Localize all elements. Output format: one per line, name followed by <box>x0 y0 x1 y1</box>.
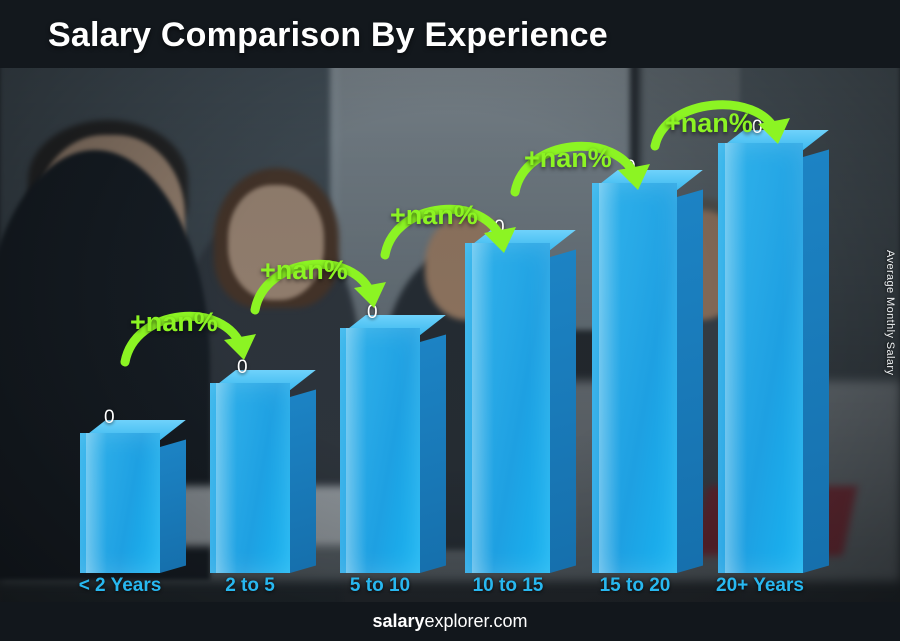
bar-front <box>340 328 420 573</box>
bar-0 <box>80 433 160 573</box>
bar-3 <box>465 243 550 573</box>
growth-label-2: +nan% <box>390 200 478 231</box>
bar-5 <box>718 143 803 573</box>
bar-side <box>803 150 829 573</box>
chart-stage: Salary Comparison By Experience Average … <box>0 0 900 641</box>
bar-side <box>550 250 576 573</box>
bar-front <box>592 183 677 573</box>
growth-label-1: +nan% <box>260 255 348 286</box>
bar-2 <box>340 328 420 573</box>
growth-label-4: +nan% <box>665 108 753 139</box>
bar-front <box>465 243 550 573</box>
bar-value-0: 0 <box>104 407 115 429</box>
brand-rest: explorer.com <box>425 611 528 631</box>
bar-1 <box>210 383 290 573</box>
bar-4 <box>592 183 677 573</box>
bar-side <box>677 190 703 573</box>
bar-side <box>420 335 446 573</box>
bar-front <box>210 383 290 573</box>
bars-area: 0 < 2 Years 0 2 to 5 0 5 to 10 0 10 to 1… <box>0 0 900 641</box>
bar-side <box>160 440 186 573</box>
brand-bold: salary <box>372 611 424 631</box>
bar-side <box>290 390 316 573</box>
brand-watermark: salaryexplorer.com <box>0 611 900 632</box>
growth-label-0: +nan% <box>130 307 218 338</box>
category-label-5: 20+ Years <box>680 575 840 597</box>
growth-label-3: +nan% <box>524 143 612 174</box>
bar-front <box>718 143 803 573</box>
bar-front <box>80 433 160 573</box>
